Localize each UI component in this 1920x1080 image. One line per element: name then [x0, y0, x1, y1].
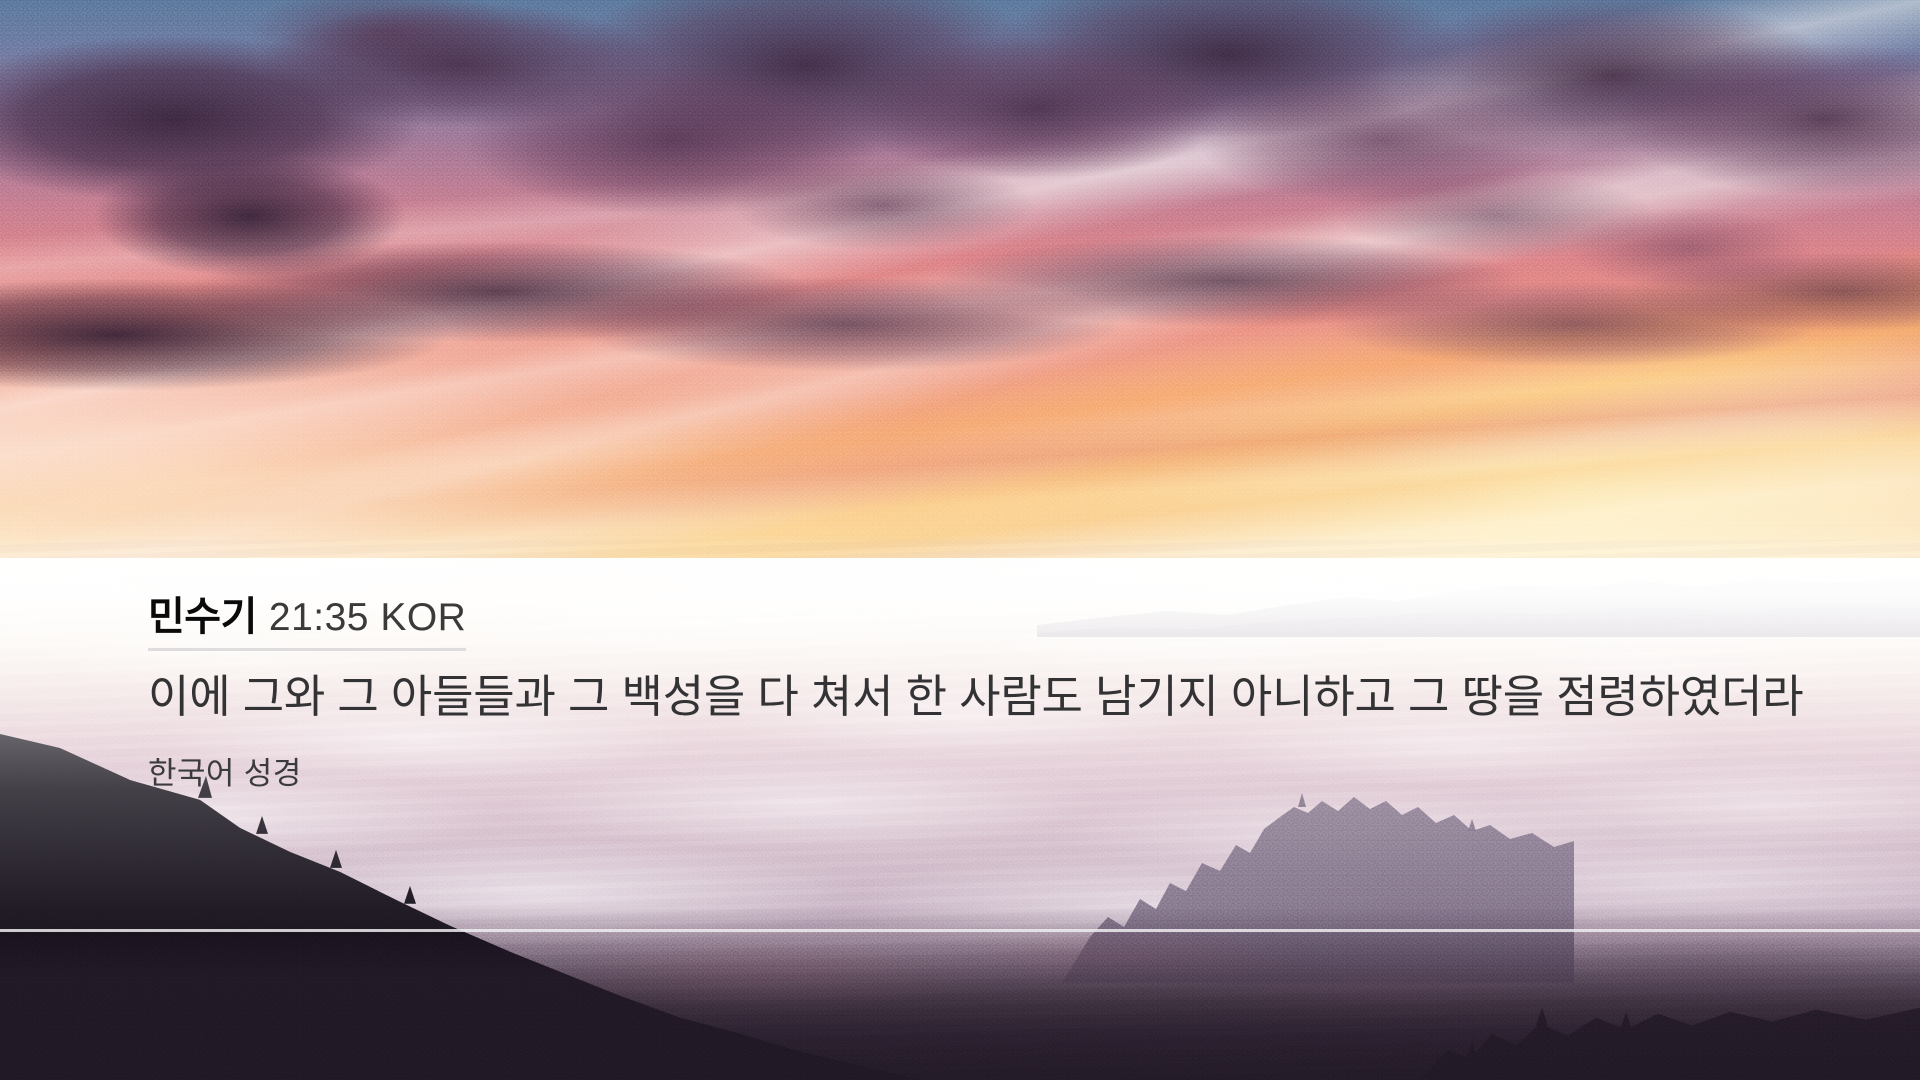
bible-translation-attribution: 한국어 성경 [148, 748, 1920, 793]
verse-text: 이에 그와 그 아들들과 그 백성을 다 쳐서 한 사람도 남기지 아니하고 그… [148, 667, 1848, 726]
bottom-vignette [0, 907, 1920, 1080]
verse-reference: 민수기21:35 KOR [148, 584, 466, 651]
verse-reference-location: 21:35 KOR [269, 596, 466, 639]
verse-reference-book: 민수기 [148, 595, 257, 639]
verse-image-canvas: 민수기21:35 KOR 이에 그와 그 아들들과 그 백성을 다 쳐서 한 사… [0, 0, 1920, 1080]
verse-overlay-panel: 민수기21:35 KOR 이에 그와 그 아들들과 그 백성을 다 쳐서 한 사… [0, 558, 1920, 930]
